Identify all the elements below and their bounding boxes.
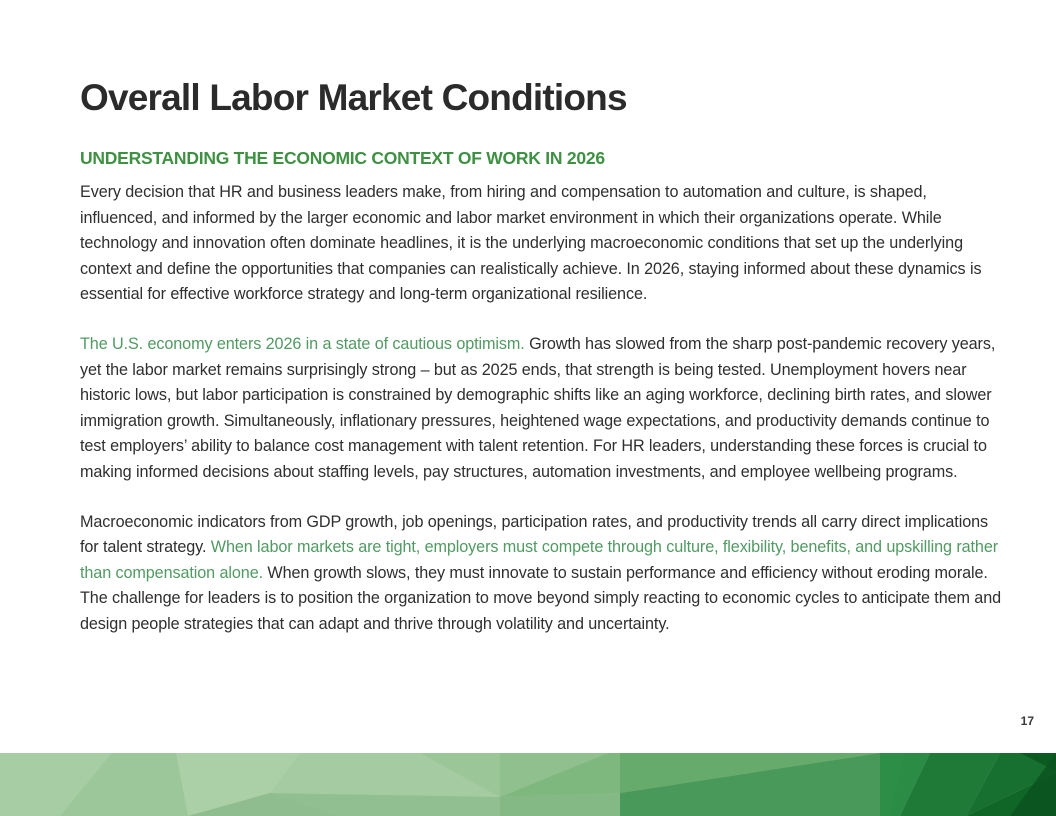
paragraph-2-highlight: The U.S. economy enters 2026 in a state … (80, 335, 525, 353)
paragraph-1: Every decision that HR and business lead… (80, 180, 1002, 308)
page-title: Overall Labor Market Conditions (80, 77, 627, 120)
page-number: 17 (1021, 714, 1034, 728)
footer-decorative-band (0, 753, 1056, 816)
slide-page: Overall Labor Market Conditions UNDERSTA… (0, 0, 1056, 816)
page-subtitle: UNDERSTANDING THE ECONOMIC CONTEXT OF WO… (80, 148, 605, 169)
paragraph-2: The U.S. economy enters 2026 in a state … (80, 332, 1002, 486)
paragraph-3: Macroeconomic indicators from GDP growth… (80, 510, 1002, 638)
low-poly-footer-graphic (0, 753, 1056, 816)
paragraph-2-rest: Growth has slowed from the sharp post-pa… (80, 335, 995, 481)
body-content: Every decision that HR and business lead… (80, 180, 1002, 638)
